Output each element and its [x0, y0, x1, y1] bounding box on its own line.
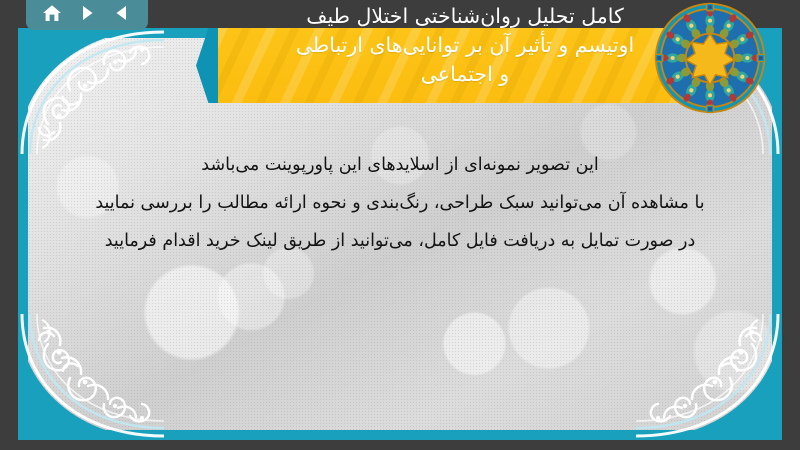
navigation-toolbar: [26, 0, 148, 30]
body-line-1: این تصویر نمونه‌ای از اسلایدهای این پاور…: [50, 146, 750, 184]
slide-body-text: این تصویر نمونه‌ای از اسلایدهای این پاور…: [28, 146, 772, 260]
page-title: کامل تحلیل روان‌شناختی اختلال طیف اوتیسم…: [230, 2, 700, 89]
triangle-left-icon: [112, 3, 132, 23]
title-line-1: کامل تحلیل روان‌شناختی اختلال طیف: [230, 2, 700, 31]
title-line-2: اوتیسم و تأثیر آن بر توانایی‌های ارتباطی: [230, 31, 700, 60]
triangle-right-icon: [77, 3, 97, 23]
home-icon: [41, 3, 63, 23]
title-line-3: و اجتماعی: [230, 60, 700, 89]
screen: این تصویر نمونه‌ای از اسلایدهای این پاور…: [0, 0, 800, 450]
back-button[interactable]: [109, 1, 135, 25]
home-button[interactable]: [39, 1, 65, 25]
body-line-2: با مشاهده آن می‌توانید سبک طراحی، رنگ‌بن…: [50, 184, 750, 222]
forward-button[interactable]: [74, 1, 100, 25]
persian-medallion-ornament: [654, 2, 766, 114]
body-line-3: در صورت تمایل به دریافت فایل کامل، می‌تو…: [50, 222, 750, 260]
